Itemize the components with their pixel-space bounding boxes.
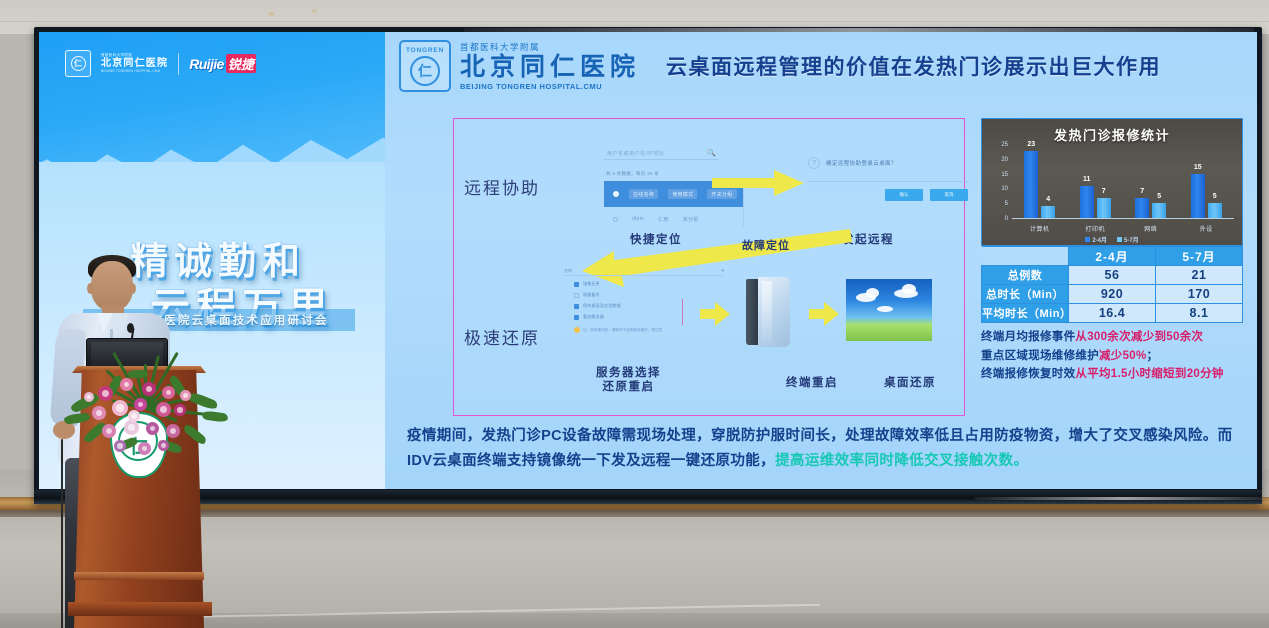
table-row-header: 平均时长（Min） bbox=[982, 304, 1069, 323]
chart-y-tick: 5 bbox=[1005, 201, 1008, 207]
chart-x-tick-label: 计算机 bbox=[1012, 224, 1068, 233]
table-corner-cell bbox=[982, 247, 1069, 266]
flower bbox=[102, 424, 116, 438]
chart-bar-value: 23 bbox=[1027, 141, 1035, 148]
wall-seam bbox=[0, 21, 1269, 22]
hospital-name: 北京同仁医院 bbox=[460, 55, 640, 80]
table-row: 总例数5621 bbox=[982, 266, 1243, 285]
leaf bbox=[182, 423, 208, 447]
hospital-name-block: 首都医科大学附属 北京同仁医院 BEIJING TONGREN HOSPITAL… bbox=[460, 41, 640, 91]
flower bbox=[98, 386, 113, 401]
ruijie-logo-cn: 锐捷 bbox=[226, 54, 256, 73]
hospital-name-block: 首都医科大学附属 北京同仁医院 BEIJING TONGREN HOSPITAL… bbox=[101, 54, 168, 73]
dialog-buttons: 确认 取消 bbox=[808, 189, 968, 201]
flower bbox=[180, 390, 191, 401]
cloud-shape bbox=[902, 284, 916, 294]
table-body: 总例数5621总时长（Min）920170平均时长（Min）16.48.1 bbox=[982, 266, 1243, 323]
mock-checkbox-row[interactable]: 镜像还原 bbox=[564, 281, 724, 287]
legend-label: 5-7月 bbox=[1124, 235, 1139, 244]
flower bbox=[156, 402, 171, 417]
chart-bar-group: 75 bbox=[1123, 145, 1179, 218]
chart-bar-group: 155 bbox=[1179, 145, 1235, 218]
chart-legend-item: 2-4月 bbox=[1085, 235, 1107, 244]
microphone-icon bbox=[127, 323, 134, 333]
flower bbox=[114, 440, 126, 452]
bezel-bottom-highlight bbox=[974, 497, 1269, 500]
table-row: 总时长（Min）920170 bbox=[982, 285, 1243, 304]
desktop-wallpaper-thumbnail bbox=[846, 279, 932, 341]
flower-arrangement bbox=[62, 352, 230, 468]
flower bbox=[166, 424, 180, 438]
table-header-row: 2-4月 5-7月 bbox=[982, 247, 1243, 266]
flower bbox=[128, 410, 140, 422]
checkbox-unchecked-icon bbox=[574, 293, 579, 298]
caption-server-select: 服务器选择 还原重启 bbox=[596, 366, 661, 395]
chart-y-tick: 0 bbox=[1005, 216, 1008, 222]
leaf bbox=[64, 412, 91, 425]
checkbox-checked-icon bbox=[574, 315, 579, 320]
mock-result-count: 共 4 条数据，每页 20 条 bbox=[606, 171, 659, 177]
legend-swatch bbox=[1085, 237, 1090, 242]
metric-label: 终端报修恢复时效 bbox=[981, 368, 1075, 380]
metric-label: 终端月均报修事件 bbox=[981, 331, 1075, 343]
table-cell: 8.1 bbox=[1156, 304, 1243, 323]
chart-legend-item: 5-7月 bbox=[1117, 235, 1139, 244]
legend-swatch bbox=[1117, 237, 1122, 242]
table-row-header: 总例数 bbox=[982, 266, 1069, 285]
chart-bar-value: 7 bbox=[1102, 188, 1106, 195]
caption-desktop-restore: 桌面还原 bbox=[884, 374, 936, 390]
presenter-ear bbox=[87, 283, 94, 294]
flower bbox=[134, 398, 147, 411]
thin-client-terminal-illustration bbox=[746, 277, 790, 347]
metric-line: 重点区域现场维修维护减少50%； bbox=[981, 347, 1257, 366]
warning-icon bbox=[574, 327, 580, 333]
chart-y-tick: 25 bbox=[1001, 142, 1008, 148]
chart-bar-value: 4 bbox=[1046, 196, 1050, 203]
dialog-question-row: ? 确定远程协助登录云桌面？ bbox=[808, 157, 968, 169]
flower bbox=[142, 382, 156, 396]
flower bbox=[84, 392, 94, 402]
cloud-shape bbox=[877, 306, 893, 312]
mock-cell: 在线名称 bbox=[629, 189, 658, 199]
mock-table-row[interactable]: dlpin 仁用 未分组 bbox=[604, 213, 744, 225]
leaf bbox=[202, 410, 229, 423]
flower bbox=[158, 440, 169, 451]
chart-bar: 7 bbox=[1135, 198, 1149, 218]
checkbox-checked-icon bbox=[574, 282, 579, 287]
radio-selected-icon bbox=[613, 191, 619, 197]
chart-y-tick: 10 bbox=[1001, 186, 1008, 192]
leaf bbox=[128, 370, 148, 378]
ruijie-logo-en: Ruijie bbox=[189, 56, 224, 72]
hospital-seal-mono: 仁 bbox=[71, 56, 86, 71]
slide-content: TONGREN 仁 首都医科大学附属 北京同仁医院 BEIJING TONGRE… bbox=[385, 32, 1257, 489]
metric-suffix: ； bbox=[1147, 350, 1159, 362]
presenter-ear bbox=[129, 283, 136, 294]
caption-line-1: 服务器选择 bbox=[596, 367, 661, 379]
checkbox-checked-icon bbox=[574, 304, 579, 309]
metric-line: 终端报修恢复时效从平均1.5小时缩短到20分钟 bbox=[981, 365, 1257, 384]
chart-bar-value: 11 bbox=[1083, 176, 1090, 183]
ruijie-logo: Ruijie 锐捷 bbox=[189, 54, 256, 73]
chart-bar-value: 7 bbox=[1140, 188, 1144, 195]
repair-statistics-chart: 发热门诊报修统计 0510152025 23411775155 计算机打印机网络… bbox=[981, 118, 1243, 246]
workflow-diagram: 远程协助 极速还原 用户名或用户名/IP地址 🔍 共 4 条数据，每页 20 条… bbox=[453, 118, 965, 416]
mock-cell: 未分组 bbox=[683, 216, 699, 223]
chart-bar-group: 117 bbox=[1068, 145, 1124, 218]
chart-bar: 5 bbox=[1208, 203, 1222, 218]
caption-terminal-restart: 终端重启 bbox=[786, 374, 838, 390]
table-cell: 920 bbox=[1069, 285, 1156, 304]
screenshot-root: 仁 首都医科大学附属 北京同仁医院 BEIJING TONGREN HOSPIT… bbox=[0, 0, 1269, 628]
podium-trim bbox=[74, 572, 204, 580]
chart-legend: 2-4月5-7月 bbox=[982, 235, 1242, 244]
chart-x-tick-label: 打印机 bbox=[1068, 224, 1124, 233]
question-icon: ? bbox=[808, 157, 820, 169]
brand-logo-row: 仁 首都医科大学附属 北京同仁医院 BEIJING TONGREN HOSPIT… bbox=[65, 50, 256, 77]
seal-label: TONGREN bbox=[406, 47, 444, 54]
flower bbox=[146, 422, 159, 435]
table-col-header: 5-7月 bbox=[1156, 247, 1243, 266]
table-cell: 21 bbox=[1156, 266, 1243, 285]
summary-paragraph: 疫情期间，发热门诊PC设备故障需现场处理，穿脱防护服时间长，处理故障效率低且占用… bbox=[407, 424, 1243, 474]
mock-panel-header: 名称 ▾ bbox=[564, 267, 724, 276]
metric-line: 终端月均报修事件从300余次减少到50余次 bbox=[981, 328, 1257, 347]
chart-bar: 11 bbox=[1080, 186, 1094, 218]
chart-bar-group: 234 bbox=[1012, 145, 1068, 218]
flower bbox=[112, 400, 128, 416]
table-cell: 56 bbox=[1069, 266, 1156, 285]
chart-y-tick: 20 bbox=[1001, 157, 1008, 163]
arrow-right-icon bbox=[712, 169, 804, 197]
seal-mono: 仁 bbox=[410, 56, 440, 86]
chart-bar-value: 15 bbox=[1194, 164, 1202, 171]
hospital-affiliation: 首都医科大学附属 bbox=[460, 41, 640, 53]
dialog-confirm-button[interactable]: 确认 bbox=[885, 189, 923, 201]
hospital-seal-icon: TONGREN 仁 bbox=[399, 40, 451, 92]
chart-bar: 23 bbox=[1024, 151, 1038, 218]
mock-panel-divider bbox=[682, 299, 683, 325]
key-metrics-list: 终端月均报修事件从300余次减少到50余次重点区域现场维修维护减少50%；终端报… bbox=[981, 328, 1257, 384]
caption-line-2: 还原重启 bbox=[603, 381, 655, 393]
chart-bar: 5 bbox=[1152, 203, 1166, 218]
table-cell: 170 bbox=[1156, 285, 1243, 304]
slide-hospital-logo: TONGREN 仁 首都医科大学附属 北京同仁医院 BEIJING TONGRE… bbox=[399, 40, 640, 92]
chart-y-tick: 15 bbox=[1001, 172, 1008, 178]
chart-baseline bbox=[1012, 218, 1234, 219]
chart-bar-groups: 23411775155 bbox=[1012, 145, 1234, 218]
chart-plot-area: 0510152025 23411775155 bbox=[1012, 145, 1234, 219]
mock-cell: 使用模式 bbox=[668, 189, 697, 199]
flower bbox=[92, 406, 106, 420]
wall-mark bbox=[268, 12, 275, 16]
leaf bbox=[187, 391, 219, 412]
hospital-name: 北京同仁医院 bbox=[101, 59, 168, 69]
cloud-shape bbox=[866, 288, 879, 298]
chevron-down-icon: ▾ bbox=[721, 268, 724, 274]
mock-cell: dlpin bbox=[632, 216, 644, 222]
flower bbox=[162, 386, 175, 399]
chart-x-axis-labels: 计算机打印机网络外设 bbox=[1012, 224, 1234, 233]
table-row: 平均时长（Min）16.48.1 bbox=[982, 304, 1243, 323]
metric-value: 从平均1.5小时缩短到20分钟 bbox=[1075, 368, 1223, 380]
legend-label: 2-4月 bbox=[1092, 235, 1107, 244]
mock-checkbox-label: 增量备份 bbox=[583, 292, 600, 298]
metric-value: 减少50% bbox=[1099, 350, 1147, 362]
chart-bar-value: 5 bbox=[1157, 193, 1161, 200]
logo-divider bbox=[178, 53, 179, 75]
table-cell: 16.4 bbox=[1069, 304, 1156, 323]
dialog-cancel-button[interactable]: 取消 bbox=[930, 189, 968, 201]
mock-search-field[interactable]: 用户名或用户名/IP地址 🔍 bbox=[604, 147, 719, 160]
dialog-divider bbox=[808, 181, 968, 182]
metric-value: 从300余次减少到50余次 bbox=[1075, 331, 1203, 343]
mock-checkbox-label: 重启服务器 bbox=[583, 314, 604, 320]
hospital-name-en: BEIJING TONGREN HOSPITAL.CMU bbox=[460, 82, 640, 91]
mock-checkbox-label: 镜像还原 bbox=[583, 281, 600, 287]
chart-x-tick-label: 外设 bbox=[1179, 224, 1235, 233]
dialog-question-text: 确定远程协助登录云桌面？ bbox=[826, 159, 897, 167]
diagram-row-label-fast-restore: 极速还原 bbox=[464, 324, 540, 349]
radio-unselected-icon bbox=[613, 217, 618, 222]
hospital-name-en: BEIJING TONGREN HOSPITAL.CMU bbox=[101, 70, 168, 73]
mock-note-text: 注：所有操作前，请断开干扰的现场操作，请注意 bbox=[583, 328, 662, 333]
chart-bar: 15 bbox=[1191, 174, 1205, 218]
terminal-highlight bbox=[762, 281, 772, 343]
podium-base bbox=[68, 602, 212, 616]
flower bbox=[138, 442, 151, 455]
table-head: 2-4月 5-7月 bbox=[982, 247, 1243, 266]
chart-x-tick-label: 网络 bbox=[1123, 224, 1179, 233]
flower bbox=[120, 378, 133, 391]
bezel-bottom bbox=[34, 490, 1262, 504]
chart-bar: 4 bbox=[1041, 206, 1055, 218]
mock-search-placeholder: 用户名或用户名/IP地址 bbox=[607, 150, 664, 157]
table-row-header: 总时长（Min） bbox=[982, 285, 1069, 304]
chart-bar: 7 bbox=[1097, 198, 1111, 218]
mock-confirm-dialog: ? 确定远程协助登录云桌面？ 确认 取消 bbox=[808, 157, 968, 213]
arrow-right-small-icon bbox=[700, 301, 730, 327]
chart-y-axis: 0510152025 bbox=[986, 145, 1010, 219]
slide-title: 云桌面远程管理的价值在发热门诊展示出巨大作用 bbox=[666, 51, 1161, 81]
mock-cell: 仁用 bbox=[658, 216, 669, 223]
arrow-right-small-icon bbox=[809, 301, 839, 327]
mock-checkbox-row[interactable]: 增量备份 bbox=[564, 292, 724, 298]
hospital-seal-icon: 仁 bbox=[65, 50, 91, 77]
slide-header: TONGREN 仁 首都医科大学附属 北京同仁医院 BEIJING TONGRE… bbox=[399, 40, 1161, 92]
metric-label: 重点区域现场维修维护 bbox=[981, 350, 1099, 362]
presenter-head bbox=[91, 261, 133, 311]
wall-mark bbox=[312, 9, 317, 13]
flower bbox=[124, 420, 139, 435]
caption-fault-locate: 故障定位 bbox=[742, 237, 790, 253]
flower bbox=[174, 404, 186, 416]
search-icon: 🔍 bbox=[707, 149, 716, 157]
diagram-row-label-remote-assist: 远程协助 bbox=[464, 174, 540, 199]
summary-table: 2-4月 5-7月 总例数5621总时长（Min）920170平均时长（Min）… bbox=[981, 246, 1243, 323]
table-col-header: 2-4月 bbox=[1069, 247, 1156, 266]
chart-title: 发热门诊报修统计 bbox=[982, 125, 1242, 144]
mock-checkbox-label: 保持桌面及应用数据 bbox=[583, 303, 621, 309]
mock-panel-title: 名称 bbox=[564, 268, 572, 274]
mock-panel-note: 注：所有操作前，请断开干扰的现场操作，请注意 bbox=[564, 327, 724, 333]
chart-bar-value: 5 bbox=[1213, 193, 1217, 200]
paragraph-highlight: 提高运维效率同时降低交叉接触次数。 bbox=[775, 453, 1028, 469]
